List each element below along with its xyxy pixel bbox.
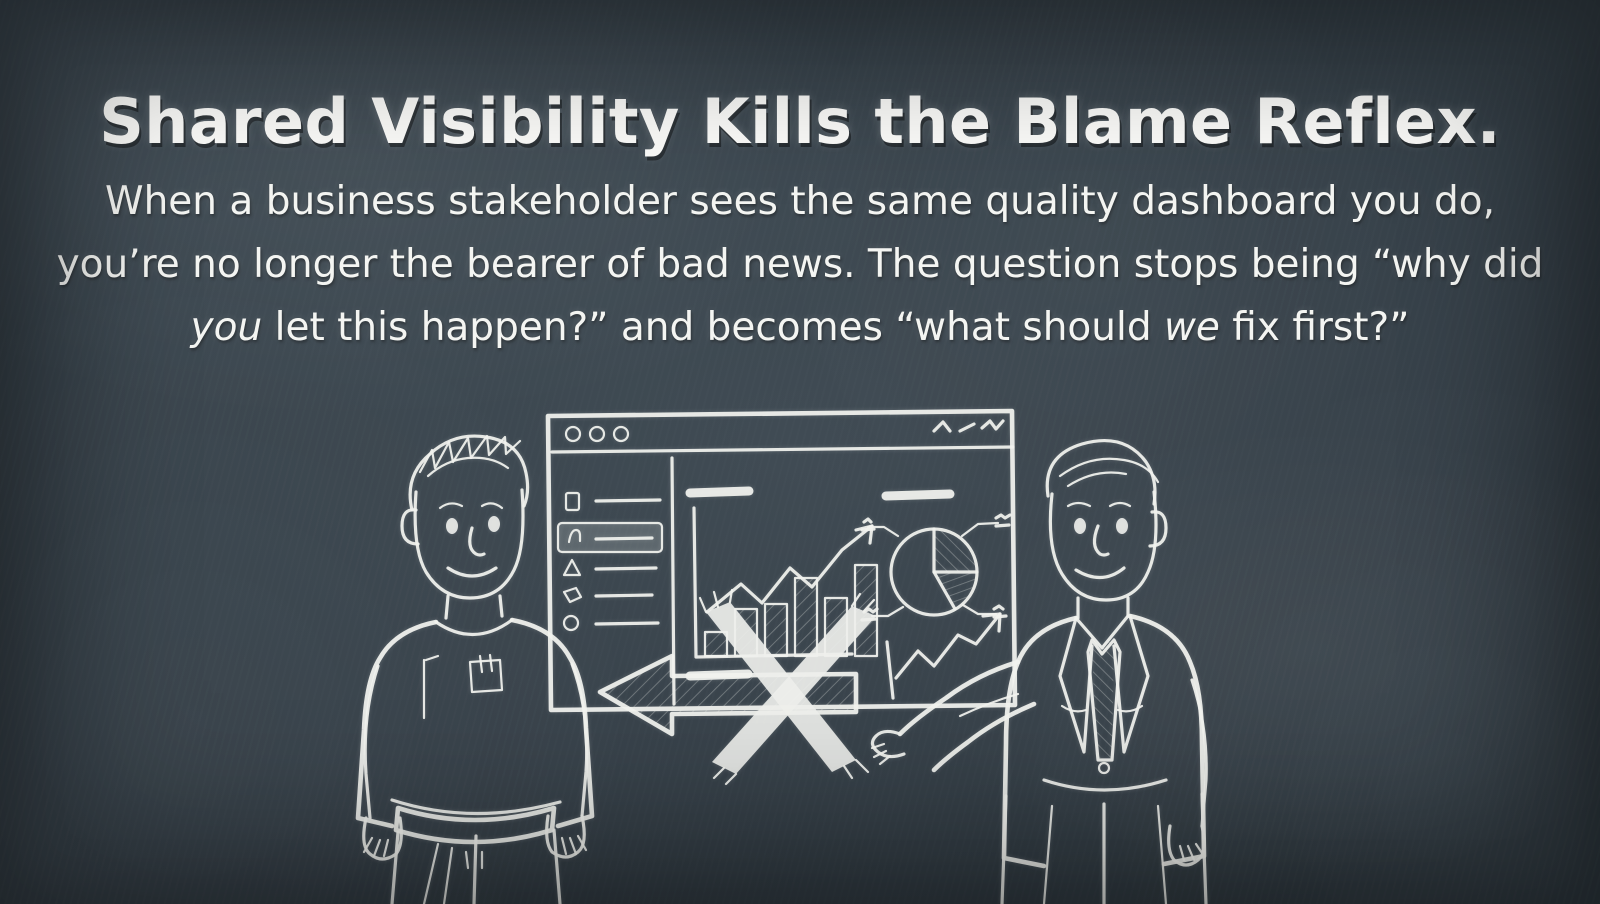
dashboard-pie-chart bbox=[862, 494, 1010, 620]
stakeholder-jacket-hem bbox=[1044, 780, 1166, 790]
window-dot-1 bbox=[566, 427, 580, 441]
sidebar-item-3[interactable] bbox=[564, 560, 656, 575]
stakeholder-eye-right bbox=[1116, 518, 1128, 534]
body-line-3-part-2: let this happen?” and becomes “what shou… bbox=[262, 305, 1164, 350]
stakeholder-arm-extended-lower bbox=[934, 704, 1034, 770]
sidebar-item-5-label bbox=[596, 623, 658, 624]
sidebar-item-5[interactable] bbox=[564, 616, 658, 630]
bar-chart-title-placeholder bbox=[690, 491, 749, 493]
sidebar-item-1-label bbox=[596, 500, 660, 501]
stakeholder-pointing-hand bbox=[872, 731, 904, 756]
stakeholder-eyebrows bbox=[1068, 503, 1130, 506]
secondary-chart-axis bbox=[887, 642, 893, 698]
stakeholder-hand-fingers bbox=[872, 744, 890, 764]
stakeholder-eye-left bbox=[1074, 518, 1086, 534]
figure-business-stakeholder bbox=[872, 441, 1206, 904]
document-icon bbox=[566, 493, 579, 510]
stakeholder-mouth bbox=[1076, 568, 1124, 578]
engineer-jeans-shading bbox=[424, 844, 452, 904]
dashboard-sidebar bbox=[558, 493, 662, 630]
alert-triangle-icon bbox=[564, 560, 580, 575]
titlebar-sparkline-icon bbox=[934, 421, 1003, 431]
figure-engineer bbox=[358, 436, 592, 904]
chalk-illustration bbox=[0, 360, 1600, 904]
sidebar-item-2-label bbox=[596, 538, 652, 539]
pie-callout-line-2 bbox=[963, 605, 996, 614]
pie-chart-title-placeholder bbox=[886, 494, 950, 496]
body-line-3-part-3: fix first?” bbox=[1220, 305, 1410, 350]
dashboard-secondary-chart bbox=[887, 614, 1000, 698]
engineer-legs bbox=[392, 830, 560, 904]
stakeholder-jacket-button bbox=[1099, 763, 1109, 773]
body-line-3-part-1: “why did bbox=[1372, 242, 1543, 287]
stakeholder-hair-shading bbox=[1060, 459, 1158, 486]
engineer-pocket-pens-icon bbox=[480, 655, 492, 672]
bar-4 bbox=[795, 578, 817, 656]
sidebar-item-3-label bbox=[596, 568, 656, 569]
engineer-eye-left bbox=[446, 518, 458, 534]
circle-icon bbox=[564, 616, 578, 630]
slide-canvas: Shared Visibility Kills the Blame Reflex… bbox=[0, 0, 1600, 904]
tag-icon bbox=[564, 588, 581, 602]
engineer-shirt-pocket bbox=[470, 660, 502, 692]
sidebar-item-1[interactable] bbox=[566, 493, 660, 510]
stakeholder-arm-extended bbox=[900, 662, 1018, 734]
stakeholder-nose bbox=[1094, 526, 1108, 555]
pie-label-scribble-1 bbox=[996, 515, 1010, 526]
body-line-1: When a business stakeholder sees the sam… bbox=[105, 179, 1495, 224]
sidebar-item-2[interactable] bbox=[558, 523, 662, 552]
sidebar-item-4-label bbox=[596, 595, 652, 596]
engineer-mouth bbox=[448, 568, 496, 576]
engineer-fingers-right bbox=[562, 836, 586, 854]
dashboard-titlebar-divider bbox=[552, 447, 1013, 452]
secondary-chart-line bbox=[896, 614, 1000, 678]
engineer-nose bbox=[470, 528, 484, 555]
stakeholder-lapel-right bbox=[1114, 616, 1148, 752]
engineer-collar bbox=[436, 620, 512, 635]
pie-slice-1-fill bbox=[934, 529, 977, 572]
dashboard-bar-chart bbox=[690, 491, 877, 676]
pie-callout-line-1 bbox=[962, 523, 998, 536]
window-dots bbox=[566, 427, 628, 441]
stakeholder-head bbox=[1050, 492, 1156, 600]
window-dot-2 bbox=[590, 427, 604, 441]
window-dot-3 bbox=[614, 427, 628, 441]
engineer-eye-right bbox=[488, 516, 500, 532]
page-title: Shared Visibility Kills the Blame Reflex… bbox=[0, 90, 1600, 154]
body-emphasis-you: you bbox=[191, 305, 263, 350]
body-paragraph: When a business stakeholder sees the sam… bbox=[38, 170, 1562, 359]
body-emphasis-we: we bbox=[1164, 305, 1220, 350]
bar-1 bbox=[705, 632, 727, 656]
stakeholder-lapel-left bbox=[1060, 618, 1092, 752]
stakeholder-trousers bbox=[1002, 794, 1206, 904]
engineer-eyebrows bbox=[440, 503, 502, 508]
body-line-2: you’re no longer the bearer of bad news.… bbox=[57, 242, 1360, 287]
stakeholder-ear bbox=[1150, 512, 1166, 546]
engineer-shirt-fold bbox=[424, 656, 438, 718]
engineer-torso-left bbox=[358, 622, 436, 826]
dashboard-window bbox=[548, 411, 1015, 710]
sidebar-item-4[interactable] bbox=[564, 588, 652, 602]
pie-slice-2-fill bbox=[934, 572, 977, 609]
bar-3 bbox=[765, 604, 787, 656]
